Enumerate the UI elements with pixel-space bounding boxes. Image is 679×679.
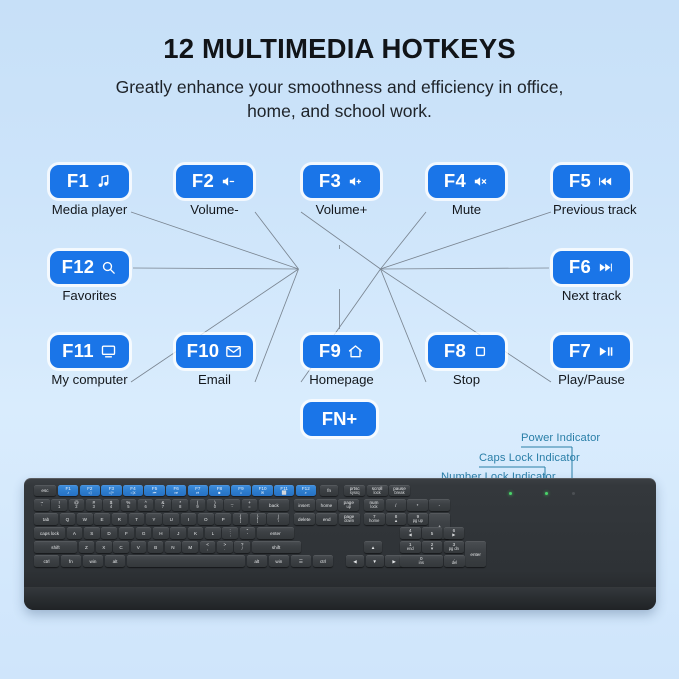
keycap-sublabel: , [207, 547, 208, 552]
keycap-f4[interactable]: F4◁x [123, 485, 143, 496]
keycap-label: M [188, 545, 192, 550]
keycap-qwerty-7[interactable]: U [163, 513, 179, 525]
keycap-label: K [194, 531, 197, 536]
poster-canvas: 12 MULTIMEDIA HOTKEYS Greatly enhance yo… [0, 0, 679, 679]
home-icon [347, 343, 364, 360]
keycap-home-6[interactable]: H [153, 527, 169, 539]
keycap-pad7-1[interactable]: 8▲ [386, 513, 407, 525]
keycap-label: home [321, 503, 333, 508]
hotkey-button-f8[interactable]: F8 [428, 335, 505, 368]
keycap-bottom-3[interactable]: alt [105, 555, 126, 567]
keycap-sublabel: lock [370, 505, 377, 510]
hotkey-caption-f12: Favorites [50, 289, 129, 304]
keycap-sublabel: ⬜ [282, 491, 287, 496]
hotkey-caption-f3: Volume+ [303, 203, 380, 218]
keycap-esc[interactable]: esc [34, 485, 56, 496]
keycap-num-5[interactable]: %5 [121, 499, 137, 511]
keycap-f10[interactable]: F10✉ [252, 485, 272, 496]
keycap-pad1-1[interactable]: 2▼ [422, 541, 443, 553]
keycap-sublabel: ◁ [88, 491, 91, 496]
keycap-syskey-16[interactable]: pausebreak [389, 485, 410, 496]
keycap-pad4-2[interactable]: 6▶ [444, 527, 465, 539]
hotkey-key-label: F8 [444, 342, 466, 361]
hotkey-node-f12[interactable]: F12Favorites [50, 251, 129, 304]
keycap-label: insert [298, 503, 309, 508]
keycap-shift-1[interactable]: Z [79, 541, 95, 553]
hotkey-button-f10[interactable]: F10 [176, 335, 253, 368]
page-title: 12 MULTIMEDIA HOTKEYS [0, 34, 679, 64]
keycap-sublabel: down [344, 519, 354, 524]
keycap-label: B [154, 545, 157, 550]
keycap-sublabel: / [242, 547, 243, 552]
keycap-shift-3[interactable]: C [113, 541, 129, 553]
keycap-sublabel: - [231, 505, 232, 510]
keycap-sublabel: ' [247, 533, 248, 538]
keycap-syskey-15[interactable]: scrolllock [367, 485, 388, 496]
hotkey-key-label: F7 [569, 342, 591, 361]
keycap-sublabel: ♪ [67, 491, 69, 496]
keycap-label: delete [298, 517, 311, 522]
keycap-sublabel: ] [257, 519, 258, 524]
keycap-shift-5[interactable]: B [148, 541, 164, 553]
keycap-f12[interactable]: F12⌕ [296, 485, 316, 496]
keycap-home-0[interactable]: caps lock [34, 527, 65, 539]
keycap-label: ☰ [299, 559, 303, 564]
keycap-sublabel: ⏭ [174, 491, 178, 496]
hotkey-key-label: F10 [187, 342, 220, 361]
keycap-f11[interactable]: F11⬜ [274, 485, 294, 496]
keycap-label: Q [66, 517, 70, 522]
keycap-pad1-0[interactable]: 1end [400, 541, 421, 553]
connector-line-f4 [381, 212, 427, 269]
keycap-sublabel: 0 [214, 505, 216, 510]
keycap-f2[interactable]: F2◁ [80, 485, 100, 496]
hotkey-key-label: F5 [569, 172, 591, 191]
keycap-shift-7[interactable]: M [182, 541, 198, 553]
hotkey-node-f5[interactable]: F5Previous track [553, 165, 630, 218]
header: 12 MULTIMEDIA HOTKEYS Greatly enhance yo… [0, 34, 679, 124]
keycap-qwerty-11[interactable]: {[ [233, 513, 249, 525]
keycap-sublabel: ⌕ [305, 491, 307, 496]
keycap-pad-3[interactable]: - [429, 499, 450, 511]
keycap-label: fn [327, 488, 331, 493]
keycap-home-7[interactable]: J [170, 527, 186, 539]
connector-line-f2 [255, 212, 299, 269]
keycap-label: ▼ [372, 559, 377, 564]
keycap-qwerty-4[interactable]: R [112, 513, 128, 525]
keycap-num-3[interactable]: #3 [86, 499, 102, 511]
keycap-label: S [90, 531, 93, 536]
keycap-label: - [439, 503, 441, 508]
keycap-sublabel: ▼ [430, 547, 434, 552]
hotkey-button-f5[interactable]: F5 [553, 165, 630, 198]
connector-line-f6 [381, 268, 550, 269]
keycap-f9[interactable]: F9⌂ [231, 485, 251, 496]
keycap-sublabel: ` [41, 505, 42, 510]
hotkey-caption-f10: Email [176, 373, 253, 388]
keycap-sublabel: ▶ [452, 533, 455, 538]
keycap-sublabel: ⏮ [153, 491, 157, 496]
keycap-label: enter [270, 531, 280, 536]
keycap-label: fn [69, 559, 73, 564]
keycap-label: N [171, 545, 174, 550]
keycap-qwerty-9[interactable]: O [198, 513, 214, 525]
keycap-label: V [137, 545, 140, 550]
keycap-fn[interactable]: fn [320, 485, 338, 496]
keycap-shift-8[interactable]: <, [200, 541, 216, 553]
keycap-home-9[interactable]: L [205, 527, 221, 539]
keycap-sublabel: 1 [58, 505, 60, 510]
hotkey-caption-f5: Previous track [553, 203, 630, 218]
connector-line-f12 [133, 268, 299, 269]
keycap-label: ctrl [43, 559, 49, 564]
hotkey-key-label: F1 [67, 172, 89, 191]
hotkey-button-f11[interactable]: F11 [50, 335, 129, 368]
keycap-label: W [83, 517, 87, 522]
keycap-label: G [142, 531, 146, 536]
keycap-label: alt [113, 559, 118, 564]
keycap-syskey-14[interactable]: prtscsysrq [344, 485, 365, 496]
led-indicator-1 [545, 492, 548, 495]
hotkey-button-f9[interactable]: F9 [303, 335, 380, 368]
keycap-pad-enter[interactable]: enter [465, 541, 486, 567]
keycap-label: D [107, 531, 110, 536]
keycap-shift-10[interactable]: ?/ [234, 541, 250, 553]
keycap-num-11[interactable]: _- [224, 499, 240, 511]
keycap-arrow-up[interactable]: ▲ [364, 541, 382, 553]
keyboard-image: escF1♪F2◁F3◁+F4◁xF5⏮F6⏭F7⏯F8■F9⌂F10✉F11⬜… [24, 478, 656, 610]
hotkey-caption-f6: Next track [553, 289, 630, 304]
keycap-shift-9[interactable]: >. [217, 541, 233, 553]
hotkey-node-f1[interactable]: F1Media player [50, 165, 129, 218]
keycap-nav2-2[interactable]: pagedown [339, 513, 360, 525]
hotkey-button-f3[interactable]: F3 [303, 165, 380, 198]
keycap-label: tab [43, 517, 49, 522]
keycap-sublabel: 7 [162, 505, 164, 510]
keycap-bottom-4[interactable] [127, 555, 245, 567]
keycap-sublabel: home [369, 519, 379, 524]
hotkey-caption-f8: Stop [428, 373, 505, 388]
keycap-num-2[interactable]: @2 [69, 499, 85, 511]
hotkey-key-label: F4 [444, 172, 466, 191]
keycap-home-2[interactable]: S [84, 527, 100, 539]
keycap-num-13[interactable]: back [259, 499, 289, 511]
callout-label-0: Power Indicator [521, 432, 600, 444]
keycap-sublabel: \ [278, 519, 279, 524]
keycap-pad7-0[interactable]: 7home [364, 513, 385, 525]
hotkey-diagram: F1Media playerF2Volume-F3Volume+F4MuteF5… [0, 150, 679, 400]
keycap-sublabel: ◀ [409, 533, 412, 538]
keycap-label: Y [152, 517, 155, 522]
previous-track-icon [597, 173, 614, 190]
keycap-label: O [204, 517, 208, 522]
keycap-sublabel: pg dn [449, 547, 459, 552]
keycap-sublabel: pg up [413, 519, 423, 524]
keycap-label: T [135, 517, 138, 522]
keycap-bottom-2[interactable]: win [83, 555, 104, 567]
hotkey-caption-f9: Homepage [303, 373, 380, 388]
hotkey-caption-f2: Volume- [176, 203, 253, 218]
keycap-num-0[interactable]: ~` [34, 499, 50, 511]
keycap-label: ◀ [353, 559, 357, 564]
keycap-label: X [102, 545, 105, 550]
keycap-label: ▲ [371, 545, 376, 550]
keycap-pad4-1[interactable]: 5 [422, 527, 443, 539]
hotkey-node-f6[interactable]: F6Next track [553, 251, 630, 304]
keycap-label: back [269, 503, 279, 508]
search-icon [100, 259, 117, 276]
keycap-pad1-2[interactable]: 3pg dn [444, 541, 465, 553]
keycap-arrow-1[interactable]: ▼ [366, 555, 384, 567]
keycap-pad4-0[interactable]: 4◀ [400, 527, 421, 539]
keycap-sublabel: . [224, 547, 225, 552]
keycap-sublabel: 4 [110, 505, 112, 510]
hotkey-node-f7[interactable]: F7Play/Pause [553, 335, 630, 388]
connector-line-f8 [381, 269, 427, 382]
keycap-label: Z [85, 545, 88, 550]
hotkey-node-f9[interactable]: F9Homepage [303, 335, 380, 388]
keycap-label: end [323, 517, 331, 522]
keycap-label: / [395, 503, 396, 508]
keycap-f1[interactable]: F1♪ [58, 485, 78, 496]
keycap-sublabel: ✉ [261, 491, 264, 496]
music-note-icon [95, 173, 112, 190]
keycap-f7[interactable]: F7⏯ [188, 485, 208, 496]
hotkey-caption-f4: Mute [428, 203, 505, 218]
keyboard-chassis: escF1♪F2◁F3◁+F4◁xF5⏮F6⏭F7⏯F8■F9⌂F10✉F11⬜… [24, 478, 656, 610]
keycap-shift-2[interactable]: X [96, 541, 112, 553]
keycap-f6[interactable]: F6⏭ [166, 485, 186, 496]
keyboard-front-lip [24, 587, 656, 610]
keycap-home-10[interactable]: :; [222, 527, 238, 539]
keycap-label: I [188, 517, 189, 522]
keycap-sublabel: lock [373, 491, 380, 496]
keycap-qwerty-0[interactable]: tab [34, 513, 58, 525]
keycap-sublabel: 5 [127, 505, 129, 510]
keycap-label: L [212, 531, 215, 536]
keycap-qwerty-2[interactable]: W [77, 513, 93, 525]
hotkey-button-f2[interactable]: F2 [176, 165, 253, 198]
keycap-sublabel: ◁+ [109, 491, 115, 496]
keycap-sublabel: end [407, 547, 414, 552]
keycap-label: * [417, 503, 419, 508]
keycap-home-3[interactable]: D [101, 527, 117, 539]
keycap-qwerty-12[interactable]: }] [250, 513, 266, 525]
keycap-bottom-1[interactable]: fn [61, 555, 82, 567]
hotkey-key-label: F2 [192, 172, 214, 191]
keycap-label: ctrl [320, 559, 326, 564]
keycap-label: shift [272, 545, 280, 550]
led-indicator-0 [509, 492, 512, 495]
hotkey-button-f7[interactable]: F7 [553, 335, 630, 368]
keycap-sublabel: 3 [93, 505, 95, 510]
keycap-label: win [275, 559, 282, 564]
page-subtitle: Greatly enhance your smoothness and effi… [90, 76, 590, 123]
keycap-qwerty-5[interactable]: T [129, 513, 145, 525]
keycap-shift-6[interactable]: N [165, 541, 181, 553]
keycap-label: H [159, 531, 162, 536]
keycap-sublabel: [ [240, 519, 241, 524]
keycap-sublabel: ■ [218, 491, 220, 496]
keycap-f5[interactable]: F5⏮ [144, 485, 164, 496]
keycap-label: U [170, 517, 173, 522]
keycap-sublabel: ⏯ [196, 491, 199, 496]
keycap-num-8[interactable]: *8 [172, 499, 188, 511]
keycap-nav1-0[interactable]: insert [294, 499, 315, 511]
keycap-num-9[interactable]: (9 [190, 499, 206, 511]
keycap-num-4[interactable]: $4 [103, 499, 119, 511]
keycap-sublabel: break [394, 491, 404, 496]
next-track-icon [597, 259, 614, 276]
keycap-sublabel: ins [419, 561, 424, 566]
keycap-bottom-7[interactable]: ☰ [291, 555, 312, 567]
keycap-pad-zero[interactable]: 0ins [400, 555, 443, 567]
keycap-sublabel: ⌂ [240, 491, 242, 496]
keycap-pad-dot[interactable]: .del [444, 555, 465, 567]
keycap-pad-2[interactable]: * [407, 499, 428, 511]
keycap-label: ▶ [392, 559, 396, 564]
keycap-arrow-0[interactable]: ◀ [346, 555, 364, 567]
keycap-num-6[interactable]: ^6 [138, 499, 154, 511]
keycap-nav2-1[interactable]: end [316, 513, 337, 525]
keycap-home-12[interactable]: enter [257, 527, 294, 539]
keycap-num-10[interactable]: )0 [207, 499, 223, 511]
hotkey-caption-f7: Play/Pause [553, 373, 630, 388]
keycap-bottom-6[interactable]: win [269, 555, 290, 567]
hotkey-key-label: F3 [319, 172, 341, 191]
keycap-home-11[interactable]: "' [240, 527, 256, 539]
keycap-nav1-2[interactable]: pageup [338, 499, 359, 511]
keycap-pad-0[interactable]: numlock [364, 499, 385, 511]
keycap-shift-0[interactable]: shift [34, 541, 77, 553]
keycap-label: R [118, 517, 121, 522]
keycap-qwerty-3[interactable]: E [94, 513, 110, 525]
keycap-bottom-8[interactable]: ctrl [313, 555, 334, 567]
keycap-sublabel: up [347, 505, 352, 510]
keycap-home-5[interactable]: G [136, 527, 152, 539]
keycap-f8[interactable]: F8■ [209, 485, 229, 496]
keycap-num-12[interactable]: += [242, 499, 258, 511]
keycap-sublabel: sysrq [350, 491, 360, 496]
hotkey-button-f12[interactable]: F12 [50, 251, 129, 284]
keycap-pad7-2[interactable]: 9pg up [408, 513, 429, 525]
volume-down-icon [220, 173, 237, 190]
volume-mute-icon [472, 173, 489, 190]
keycap-label: C [119, 545, 122, 550]
play-pause-icon [597, 343, 614, 360]
keycap-nav1-1[interactable]: home [316, 499, 337, 511]
monitor-icon [100, 343, 117, 360]
keycap-label: shift [51, 545, 59, 550]
keycap-qwerty-6[interactable]: Y [146, 513, 162, 525]
hotkey-caption-f1: Media player [50, 203, 129, 218]
hotkey-node-f8[interactable]: F8Stop [428, 335, 505, 388]
keycap-f3[interactable]: F3◁+ [101, 485, 121, 496]
keycap-qwerty-13[interactable]: |\ [267, 513, 289, 525]
keycap-label: enter [470, 552, 480, 557]
keycap-label: caps lock [40, 531, 59, 536]
connector-line-f5 [381, 212, 552, 269]
keycap-num-7[interactable]: &7 [155, 499, 171, 511]
connector-line-f3 [301, 212, 381, 269]
keycap-pad-1[interactable]: / [386, 499, 407, 511]
hotkey-node-f2[interactable]: F2Volume- [176, 165, 253, 218]
envelope-icon [225, 343, 242, 360]
keycap-sublabel: = [248, 505, 250, 510]
callout-label-1: Caps Lock Indicator [479, 452, 580, 464]
keycap-num-1[interactable]: !1 [51, 499, 67, 511]
keycap-sublabel: ▲ [394, 519, 398, 524]
hotkey-button-f1[interactable]: F1 [50, 165, 129, 198]
hotkey-key-label: F9 [319, 342, 341, 361]
hotkey-node-f10[interactable]: F10Email [176, 335, 253, 388]
keycap-nav2-0[interactable]: delete [294, 513, 315, 525]
volume-up-icon [347, 173, 364, 190]
keycap-sublabel: del [452, 561, 457, 566]
led-indicator-2 [572, 492, 575, 495]
keycap-label: A [73, 531, 76, 536]
keycap-qwerty-10[interactable]: P [215, 513, 231, 525]
keycap-label: J [177, 531, 179, 536]
keycap-qwerty-8[interactable]: I [181, 513, 197, 525]
keycap-label: F [125, 531, 128, 536]
hotkey-caption-f11: My computer [50, 373, 129, 388]
keycap-label: E [100, 517, 103, 522]
hotkey-node-f4[interactable]: F4Mute [428, 165, 505, 218]
keycap-sublabel: ; [230, 533, 231, 538]
keycap-label: win [89, 559, 96, 564]
connector-line-f1 [131, 212, 299, 269]
keycap-qwerty-1[interactable]: Q [60, 513, 76, 525]
hotkey-node-f11[interactable]: F11My computer [50, 335, 129, 388]
connector-line-f10 [255, 269, 299, 382]
keycap-shift-4[interactable]: V [131, 541, 147, 553]
hotkey-button-f6[interactable]: F6 [553, 251, 630, 284]
stop-square-icon [472, 343, 489, 360]
keycap-label: alt [254, 559, 259, 564]
keycap-bottom-5[interactable]: alt [247, 555, 268, 567]
hotkey-key-label: F12 [62, 258, 95, 277]
hotkey-node-f3[interactable]: F3Volume+ [303, 165, 380, 218]
keycap-home-4[interactable]: F [119, 527, 135, 539]
keycap-bottom-0[interactable]: ctrl [34, 555, 59, 567]
hotkey-key-label: F6 [569, 258, 591, 277]
keycap-sublabel: ◁x [130, 491, 135, 496]
keycap-label: P [222, 517, 225, 522]
keycap-home-1[interactable]: A [67, 527, 83, 539]
keycap-shift-11[interactable]: shift [252, 541, 301, 553]
keycap-home-8[interactable]: K [188, 527, 204, 539]
keycap-label: esc [41, 488, 48, 493]
keyboard-deck: escF1♪F2◁F3◁+F4◁xF5⏮F6⏭F7⏯F8■F9⌂F10✉F11⬜… [24, 478, 656, 590]
keycap-sublabel: 9 [196, 505, 198, 510]
keycap-label: 5 [431, 531, 434, 536]
keycap-sublabel: 6 [145, 505, 147, 510]
hotkey-button-f4[interactable]: F4 [428, 165, 505, 198]
keycap-sublabel: 2 [75, 505, 77, 510]
hotkey-key-label: F11 [62, 342, 94, 361]
keycap-sublabel: 8 [179, 505, 181, 510]
